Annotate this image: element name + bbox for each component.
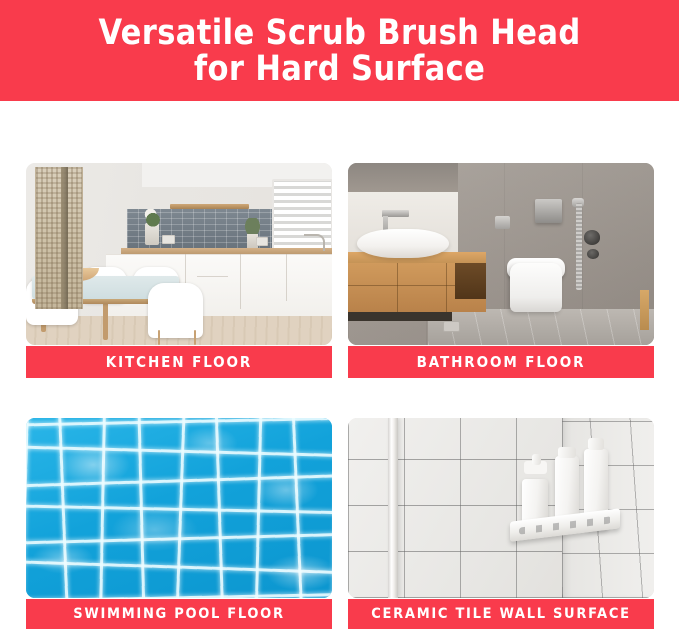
- photo-kitchen-floor: [26, 163, 332, 345]
- kitchen-flowers: [141, 209, 165, 227]
- bathroom-dispenser: [535, 199, 563, 223]
- page-title-line-2: for Hard Surface: [98, 51, 580, 87]
- kitchen-wall-shelf: [170, 204, 250, 209]
- tile-kitchen-floor: KITCHEN FLOOR: [26, 163, 332, 378]
- kitchen-curtain: [35, 167, 83, 309]
- caption-bar-kitchen-floor: KITCHEN FLOOR: [26, 346, 332, 378]
- page-title: Versatile Scrub Brush Head for Hard Surf…: [89, 15, 591, 87]
- caption-ceramic-tile-wall-surface: CERAMIC TILE WALL SURFACE: [371, 606, 630, 622]
- kitchen-chair-leg-1: [158, 330, 160, 345]
- bathroom-vessel-basin: [357, 229, 449, 258]
- bathroom-open-niche: [455, 263, 486, 299]
- bathroom-spray-hose: [576, 203, 582, 290]
- kitchen-outlet-left: [162, 235, 175, 244]
- photo-bathroom-floor: [348, 163, 654, 345]
- bathroom-cabinet-seam-3: [348, 285, 455, 286]
- kitchen-chair-leg-2: [194, 330, 196, 345]
- bathroom-vanity-shadow: [348, 312, 452, 321]
- caption-bar-swimming-pool-floor: SWIMMING POOL FLOOR: [26, 599, 332, 629]
- kitchen-cabinet-seam-2: [240, 254, 241, 309]
- caption-bar-ceramic-tile-wall-surface: CERAMIC TILE WALL SURFACE: [348, 599, 654, 629]
- bottle-tall-cap: [558, 447, 576, 458]
- bottle-spray-cap: [588, 438, 603, 451]
- bathroom-wood-trim-right: [640, 290, 649, 330]
- kitchen-table-leg-1: [103, 300, 108, 340]
- tile-swimming-pool-floor: SWIMMING POOL FLOOR: [26, 418, 332, 629]
- bathroom-tiled-floor: [428, 309, 654, 345]
- caption-kitchen-floor: KITCHEN FLOOR: [106, 353, 252, 371]
- bathroom-upper-panel: [348, 163, 458, 192]
- kitchen-curtain-stripe: [61, 167, 68, 309]
- bathroom-toilet-bowl: [510, 263, 562, 312]
- bathroom-floor-drain: [443, 321, 460, 332]
- tile-bathroom-floor: BATHROOM FLOOR: [348, 163, 654, 378]
- photo-swimming-pool-floor: [26, 418, 332, 598]
- page-title-line-1: Versatile Scrub Brush Head: [98, 13, 580, 53]
- bathroom-valve-upper: [584, 230, 601, 245]
- caption-bathroom-floor: BATHROOM FLOOR: [417, 353, 586, 371]
- pool-light-caustics: [26, 418, 332, 598]
- kitchen-outlet-right: [256, 237, 269, 246]
- kitchen-cabinet-handle: [197, 276, 228, 277]
- bathroom-cabinet-seam-1: [397, 263, 398, 312]
- bathroom-cabinet-seam-2: [446, 263, 447, 312]
- bathroom-paper-holder: [495, 216, 510, 229]
- caption-bar-bathroom-floor: BATHROOM FLOOR: [348, 346, 654, 378]
- kitchen-cabinet-seam-3: [286, 254, 287, 301]
- photo-ceramic-tile-wall: [348, 418, 654, 598]
- bottle-pump-neck: [532, 454, 541, 465]
- tile-ceramic-tile-wall-surface: CERAMIC TILE WALL SURFACE: [348, 418, 654, 629]
- surface-tile-grid: KITCHEN FLOOR: [0, 101, 679, 630]
- caption-swimming-pool-floor: SWIMMING POOL FLOOR: [73, 606, 284, 622]
- kitchen-faucet: [304, 234, 324, 251]
- header-banner: Versatile Scrub Brush Head for Hard Surf…: [0, 0, 679, 101]
- shower-pipe: [388, 418, 398, 598]
